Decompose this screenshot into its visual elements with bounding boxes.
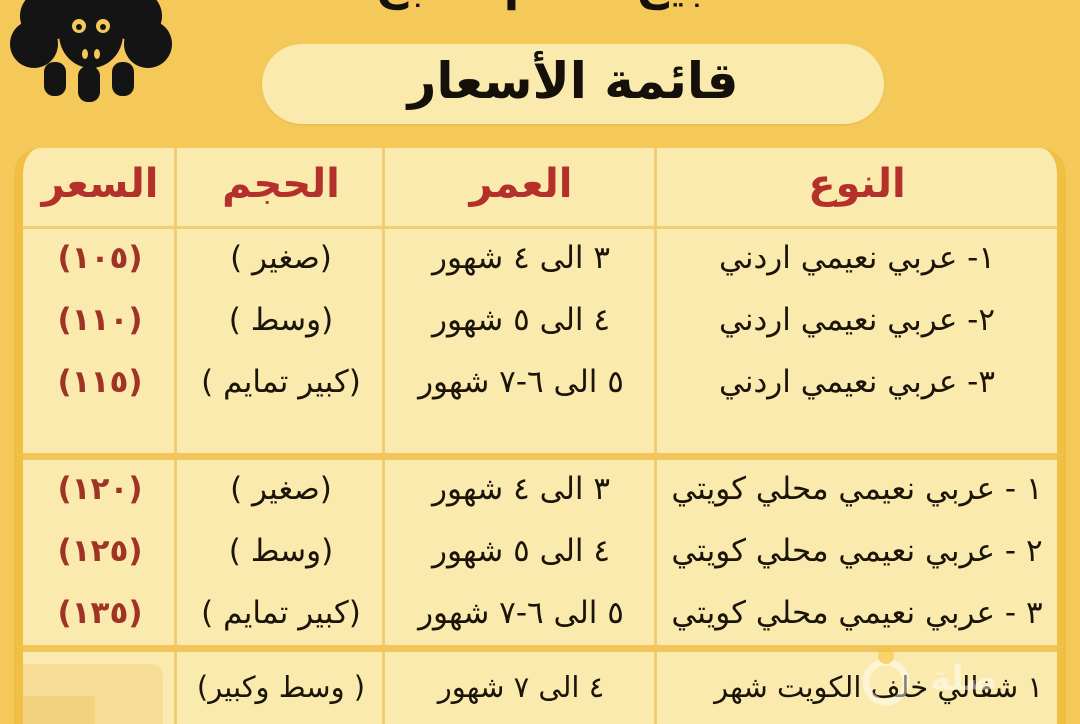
cell-size: (صغير ) [177,243,385,278]
cell-type: ٣- عربي نعيمي اردني [657,367,1057,402]
cell-price: (١٠٥) [23,243,177,278]
bottom-left-panel-corner-2 [23,696,95,724]
cell-size: (كبير تمايم ) [177,598,385,633]
cell-size: ( وسط وكبير) [177,673,385,706]
cell-type: ١ - عربي نعيمي محلي كويتي [657,474,1057,509]
row-group-shafali-kuwait: ١ شفالي خلف الكويت شهر ٤ الى ٧ شهور ( وس… [23,652,1057,724]
sheep-logo-icon [6,0,176,104]
row-group-kuwaiti-local-naimi: ١ - عربي نعيمي محلي كويتي ٣ الى ٤ شهور (… [23,460,1057,645]
table-row: ١ شفالي خلف الكويت شهر ٤ الى ٧ شهور ( وس… [23,652,1057,724]
cell-age: ٤ الى ٥ شهور [385,536,657,571]
group-divider-1 [23,453,1057,460]
row-group-jordanian-naimi: ١- عربي نعيمي اردني ٣ الى ٤ شهور (صغير )… [23,229,1057,453]
column-header-age: العمر [385,148,657,226]
cell-price: (١٢٠) [23,474,177,509]
table-row: ٣ - عربي نعيمي محلي كويتي ٥ الى ٦-٧ شهور… [23,584,1057,646]
cell-type: ٢ - عربي نعيمي محلي كويتي [657,536,1057,571]
cell-price: (١٣٥) [23,598,177,633]
table-header-row: النوع العمر الحجم السعر [23,148,1057,226]
group-divider-2 [23,645,1057,652]
cell-price: (١١٥) [23,367,177,402]
cell-age: ٣ الى ٤ شهور [385,243,657,278]
column-header-type: النوع [657,148,1057,226]
table-row: ٢- عربي نعيمي اردني ٤ الى ٥ شهور (وسط ) … [23,291,1057,353]
table-row: ٢ - عربي نعيمي محلي كويتي ٤ الى ٥ شهور (… [23,522,1057,584]
cell-size: (وسط ) [177,305,385,340]
page-title: قائمة الأسعار [408,56,739,112]
cell-age: ٥ الى ٦-٧ شهور [385,367,657,402]
cell-size: (كبير تمايم ) [177,367,385,402]
table-row: ١- عربي نعيمي اردني ٣ الى ٤ شهور (صغير )… [23,229,1057,291]
cell-size: (صغير ) [177,474,385,509]
cell-age: ٤ الى ٥ شهور [385,305,657,340]
page-title-badge: قائمة الأسعار [262,44,884,124]
table-row: ٣- عربي نعيمي اردني ٥ الى ٦-٧ شهور (كبير… [23,353,1057,415]
cell-price: (١٢٥) [23,536,177,571]
cell-size: (وسط ) [177,536,385,571]
cell-type: ٣ - عربي نعيمي محلي كويتي [657,598,1057,633]
cell-type: ٢- عربي نعيمي اردني [657,305,1057,340]
cell-age: ٣ الى ٤ شهور [385,474,657,509]
cell-age: ٤ الى ٧ شهور [385,673,657,706]
cell-price: (١١٠) [23,305,177,340]
price-table: النوع العمر الحجم السعر ١- عربي نعيمي ار… [14,148,1066,724]
price-list-page: بيع اغنام للذبح [0,0,1080,724]
cell-age: ٥ الى ٦-٧ شهور [385,598,657,633]
cell-type: ١ شفالي خلف الكويت شهر [657,673,1057,706]
cell-type: ١- عربي نعيمي اردني [657,243,1057,278]
column-header-price: السعر [23,148,177,226]
table-row: ١ - عربي نعيمي محلي كويتي ٣ الى ٤ شهور (… [23,460,1057,522]
column-header-size: الحجم [177,148,385,226]
